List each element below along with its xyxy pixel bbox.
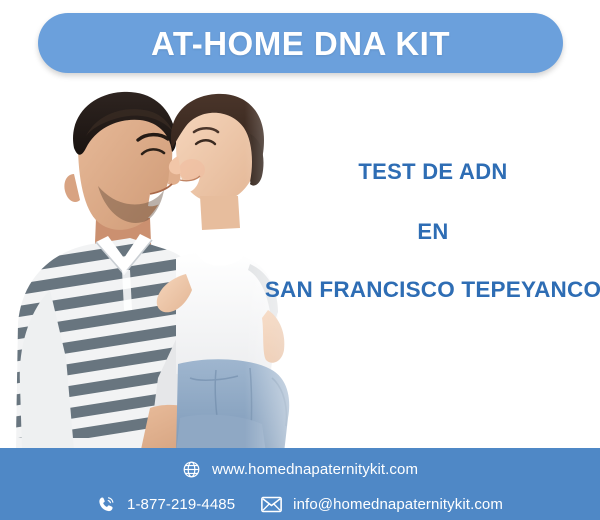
header-title: AT-HOME DNA KIT bbox=[151, 27, 450, 60]
footer-website[interactable]: www.homednapaternitykit.com bbox=[182, 460, 418, 479]
footer-row-contact: 1-877-219-4485 info@homednapaternitykit.… bbox=[0, 484, 600, 519]
envelope-icon bbox=[261, 496, 282, 513]
header-banner: AT-HOME DNA KIT bbox=[38, 13, 563, 73]
footer-phone-text: 1-877-219-4485 bbox=[127, 497, 235, 512]
phone-icon bbox=[97, 495, 116, 514]
headline-location: SAN FRANCISCO TEPEYANCO bbox=[258, 278, 600, 302]
footer-website-text: www.homednapaternitykit.com bbox=[212, 462, 418, 477]
footer-bar: www.homednapaternitykit.com 1-877-219-44… bbox=[0, 448, 600, 520]
globe-icon bbox=[182, 460, 201, 479]
footer-row-website: www.homednapaternitykit.com bbox=[0, 448, 600, 484]
footer-phone[interactable]: 1-877-219-4485 bbox=[97, 495, 235, 514]
headline-block: TEST DE ADN EN SAN FRANCISCO TEPEYANCO bbox=[258, 160, 600, 302]
headline-connector: EN bbox=[258, 220, 600, 243]
headline-service: TEST DE ADN bbox=[258, 160, 600, 183]
footer-email-text: info@homednapaternitykit.com bbox=[293, 497, 503, 512]
footer-email[interactable]: info@homednapaternitykit.com bbox=[261, 496, 503, 513]
promo-graphic: TEST DE ADN EN SAN FRANCISCO TEPEYANCO A… bbox=[0, 0, 600, 520]
